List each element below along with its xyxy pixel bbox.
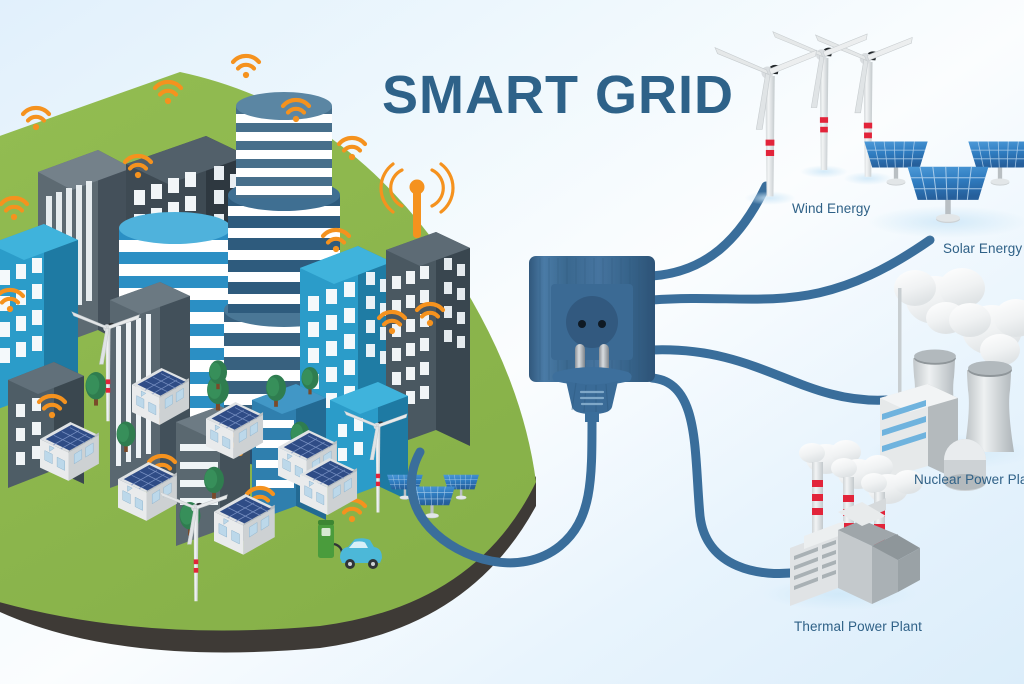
page-title: SMART GRID	[382, 64, 734, 126]
socket-hole	[578, 320, 586, 328]
socket-recess	[566, 296, 618, 348]
label-thermal-plant: Thermal Power Plant	[794, 619, 922, 634]
socket-hole	[598, 320, 606, 328]
smart-grid-infographic: SMART GRID Wind Energy Solar Energy Nucl…	[0, 0, 1024, 684]
label-nuclear-plant: Nuclear Power Plant	[914, 472, 1024, 487]
label-wind-energy: Wind Energy	[792, 201, 870, 216]
cooling-tower	[964, 361, 1014, 452]
label-solar-energy: Solar Energy	[943, 241, 1022, 256]
